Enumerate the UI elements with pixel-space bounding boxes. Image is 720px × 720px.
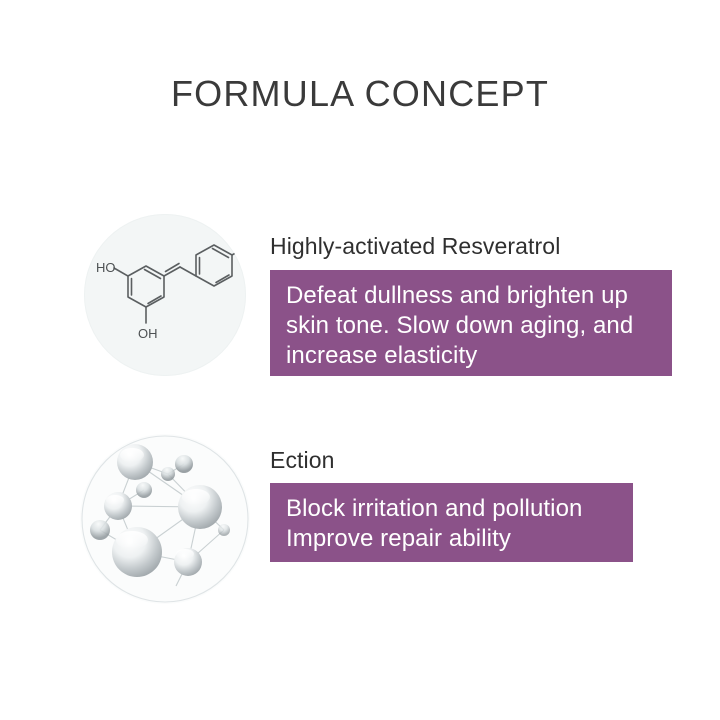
- formula-concept-page: FORMULA CONCEPT: [0, 0, 720, 720]
- callout-box-resveratrol: Defeat dullness and brighten up skin ton…: [270, 270, 672, 376]
- callout-text-ection: Block irritation and pollution Improve r…: [286, 494, 617, 554]
- callout-box-ection: Block irritation and pollution Improve r…: [270, 483, 633, 562]
- feature-heading-ection: Ection: [270, 447, 335, 474]
- label-ho-left: HO: [96, 260, 116, 275]
- molecular-network-spheres-icon: [80, 434, 250, 604]
- label-oh-bottom: OH: [138, 326, 158, 341]
- callout-text-resveratrol: Defeat dullness and brighten up skin ton…: [286, 281, 656, 371]
- feature-heading-resveratrol: Highly-activated Resveratrol: [270, 233, 560, 260]
- page-title: FORMULA CONCEPT: [0, 74, 720, 114]
- label-oh-right: OH: [227, 230, 246, 245]
- resveratrol-molecule-icon: HO OH OH: [84, 214, 246, 376]
